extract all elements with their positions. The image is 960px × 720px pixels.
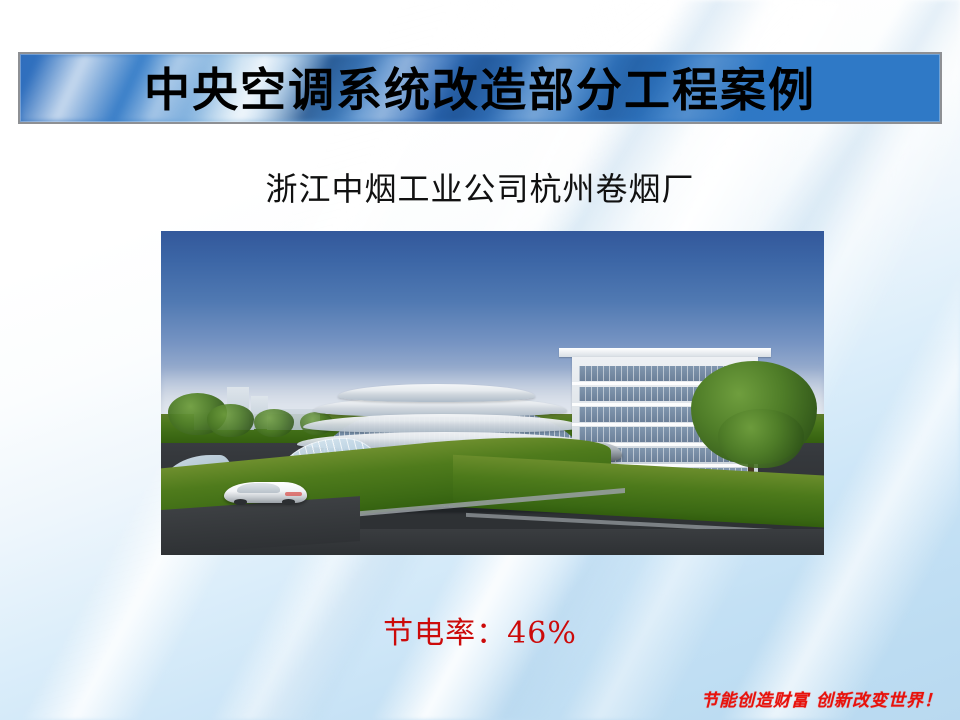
title-banner: 中央空调系统改造部分工程案例	[18, 52, 942, 124]
tree-icon	[718, 409, 804, 467]
footer-slogan: 节能创造财富 创新改变世界！	[701, 686, 942, 711]
car-wheel	[282, 499, 295, 505]
slide-root: 中央空调系统改造部分工程案例 浙江中烟工业公司杭州卷烟厂	[0, 0, 960, 720]
energy-saving-rate: 节电率：46%	[0, 608, 960, 652]
building-roof-cap	[338, 384, 535, 402]
car-icon	[224, 482, 307, 503]
building-photo	[161, 231, 824, 555]
wing-roof-icon	[559, 348, 771, 357]
car-cabin	[237, 483, 280, 493]
car-wheel	[234, 499, 247, 505]
car-taillight	[285, 492, 302, 495]
building-tier	[303, 414, 583, 433]
tree-icon	[254, 409, 294, 437]
tree-icon	[207, 404, 253, 436]
slide-subtitle: 浙江中烟工业公司杭州卷烟厂	[0, 164, 960, 210]
slide-title: 中央空调系统改造部分工程案例	[20, 54, 940, 122]
